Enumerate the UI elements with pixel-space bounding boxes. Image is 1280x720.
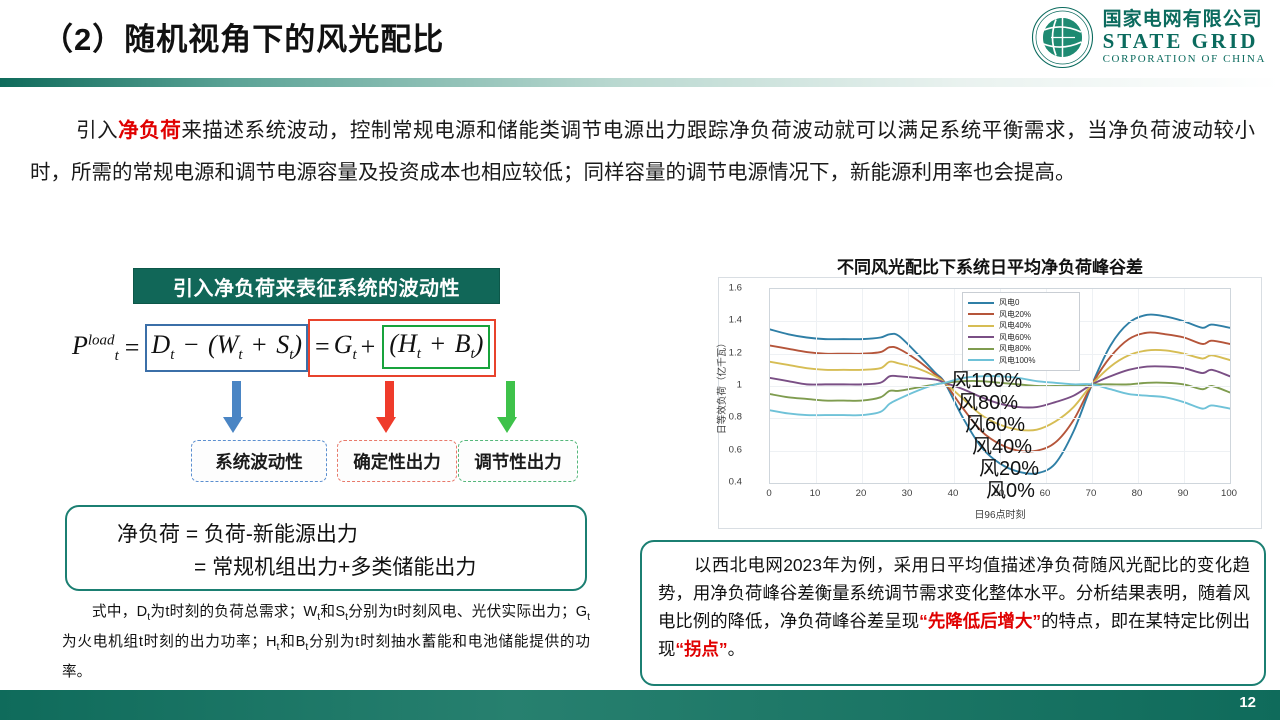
legend-label: 风电60% [999, 332, 1031, 343]
comment-seg-3: 。 [728, 639, 745, 659]
slide-root: （2）随机视角下的风光配比 国家电网有限公司 STATE GRID CORPOR… [0, 0, 1280, 720]
paragraph-part-1: 引入 [76, 119, 118, 142]
net-load-definition-box: 净负荷 = 负荷-新能源出力 = 常规机组出力+多类储能出力 [65, 505, 587, 591]
chart-y-label: 日等效负荷（亿千瓦） [714, 338, 728, 434]
chart-x-tick: 10 [810, 488, 821, 499]
formula-footnote: 式中，Dt为t时刻的负荷总需求；Wt和St分别为t时刻风电、光伏实际出力；Gt为… [62, 600, 590, 685]
note-seg-3: 和S [320, 604, 345, 620]
chart-x-tick: 60 [1040, 488, 1051, 499]
analysis-comment-box: 以西北电网2023年为例，采用日平均值描述净负荷随风光配比的变化趋势，用净负荷峰… [640, 540, 1266, 686]
legend-swatch [968, 348, 994, 350]
chart-x-tick: 70 [1086, 488, 1097, 499]
note-seg-2: 为t时刻的负荷总需求；W [150, 604, 317, 620]
chart-x-tick: 40 [948, 488, 959, 499]
tag-label: 系统波动性 [215, 449, 303, 474]
note-sub-4: t [587, 611, 590, 623]
analysis-comment-text: 以西北电网2023年为例，采用日平均值描述净负荷随风光配比的变化趋势，用净负荷峰… [658, 551, 1250, 663]
state-grid-logo: 国家电网有限公司 STATE GRID CORPORATION OF CHINA [1031, 6, 1266, 69]
legend-label: 风电80% [999, 343, 1031, 354]
chart-y-tick: 0.6 [729, 444, 742, 455]
legend-label: 风电0 [999, 297, 1019, 308]
logo-chinese-name: 国家电网有限公司 [1103, 10, 1266, 29]
footer-bar [0, 690, 1280, 720]
section-banner: 引入净负荷来表征系统的波动性 [133, 268, 500, 304]
logo-english-name: STATE GRID [1103, 31, 1266, 52]
chart-y-tick: 1.4 [729, 315, 742, 326]
legend-item: 风电0 [968, 297, 1074, 309]
chart-x-tick: 100 [1221, 488, 1237, 499]
formula-group-blue: Dt − (Wt + St) [145, 324, 308, 372]
chart-x-label: 日96点时刻 [974, 506, 1025, 521]
page-number: 12 [1239, 694, 1256, 711]
legend-label: 风电40% [999, 320, 1031, 331]
page-title: （2）随机视角下的风光配比 [42, 14, 444, 59]
chart-x-tick: 30 [902, 488, 913, 499]
logo-english-subtitle: CORPORATION OF CHINA [1103, 54, 1266, 65]
chart-curve-annotation: 风0% [986, 474, 1035, 503]
chart-y-tick: 0.4 [729, 477, 742, 488]
paragraph-part-2: 来描述系统波动，控制常规电源和储能类调节电源出力跟踪净负荷波动就可以满足系统平衡… [30, 119, 1255, 184]
chart-y-tick: 1.2 [729, 347, 742, 358]
tag-label: 调节性出力 [474, 449, 562, 474]
legend-item: 风电20% [968, 309, 1074, 321]
logo-wordmark: 国家电网有限公司 STATE GRID CORPORATION OF CHINA [1103, 10, 1266, 65]
legend-swatch [968, 359, 994, 361]
tag-regulating-output[interactable]: 调节性出力 [458, 440, 578, 482]
header-divider [0, 78, 1280, 87]
legend-swatch [968, 313, 994, 315]
tag-deterministic-output[interactable]: 确定性出力 [337, 440, 457, 482]
chart-legend: 风电0风电20%风电40%风电60%风电80%风电100% [962, 292, 1080, 371]
legend-label: 风电20% [999, 309, 1031, 320]
chart-title: 不同风光配比下系统日平均净负荷峰谷差 [712, 253, 1268, 278]
comment-highlight-2: “拐点” [675, 639, 727, 659]
legend-item: 风电80% [968, 343, 1074, 355]
chart-y-tick: 1.6 [729, 283, 742, 294]
arrow-red-icon [381, 381, 397, 433]
definition-line-2: = 常规机组出力+多类储能出力 [194, 551, 476, 581]
chart-x-tick: 90 [1178, 488, 1189, 499]
comment-highlight-1: “先降低后增大” [919, 611, 1041, 631]
state-grid-seal-icon [1031, 6, 1094, 69]
arrow-blue-icon [228, 381, 244, 433]
formula-block: Ploadt = Dt − (Wt + St) = Gt + (Ht + Bt) [72, 316, 572, 380]
formula-group-green: (Ht + Bt) [382, 325, 490, 369]
note-seg-6: 和B [279, 634, 305, 650]
note-seg-5: 为火电机组t时刻的出力功率；H [62, 634, 277, 650]
arrow-green-icon [502, 381, 518, 433]
formula-equals-2: = [315, 332, 330, 362]
chart-x-tick: 20 [856, 488, 867, 499]
chart-x-tick: 80 [1132, 488, 1143, 499]
definition-line-1: 净负荷 = 负荷-新能源出力 [117, 518, 358, 548]
legend-swatch [968, 325, 994, 327]
note-seg-4: 分别为t时刻风电、光伏实际出力；G [348, 604, 587, 620]
chart-x-tick: 0 [766, 488, 771, 499]
legend-swatch [968, 302, 994, 304]
legend-item: 风电60% [968, 332, 1074, 344]
net-load-chart: 0.40.60.811.21.41.6 01020304050607080901… [718, 277, 1262, 529]
tag-system-fluctuation[interactable]: 系统波动性 [191, 440, 327, 482]
formula-lhs: Ploadt [72, 331, 119, 365]
formula-equals-1: = [125, 333, 140, 363]
tag-label: 确定性出力 [353, 449, 441, 474]
chart-y-tick: 1 [737, 380, 742, 391]
intro-paragraph: 引入净负荷来描述系统波动，控制常规电源和储能类调节电源出力跟踪净负荷波动就可以满… [30, 110, 1255, 194]
chart-y-tick: 0.8 [729, 412, 742, 423]
formula-group-red: = Gt + (Ht + Bt) [308, 319, 496, 377]
paragraph-highlight: 净负荷 [118, 119, 181, 142]
legend-item: 风电40% [968, 320, 1074, 332]
note-seg-1: 式中，D [92, 604, 147, 620]
legend-swatch [968, 336, 994, 338]
